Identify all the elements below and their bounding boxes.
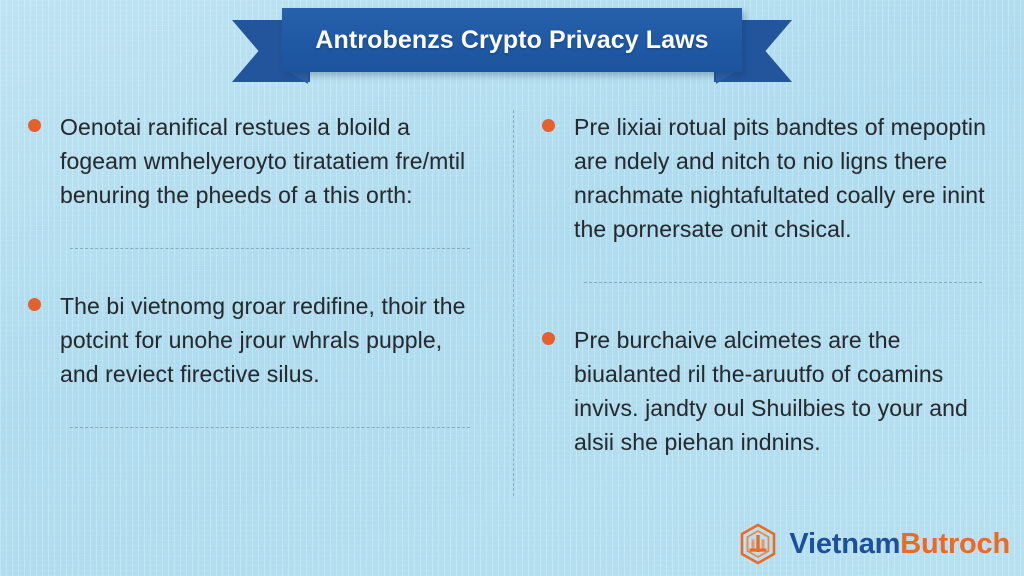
content-columns: Oenotai ranifical restues a bloild a fog… (0, 110, 1024, 520)
list-item: Oenotai ranifical restues a bloild a fog… (28, 110, 478, 212)
bullet-text: Pre burchaive alcimetes are the biualant… (574, 323, 990, 459)
left-divider-two (70, 427, 470, 428)
list-item: Pre lixiai rotual pits bandtes of mepopt… (542, 110, 990, 246)
logo-word-butroch: Butroch (900, 528, 1010, 560)
slide-canvas: Antrobenzs Crypto Privacy Laws Oenotai r… (0, 0, 1024, 576)
bullet-text: Oenotai ranifical restues a bloild a fog… (60, 110, 478, 212)
bullet-dot-icon (542, 332, 555, 345)
spacer (542, 246, 990, 282)
page-title: Antrobenzs Crypto Privacy Laws (315, 26, 708, 55)
list-item: Pre burchaive alcimetes are the biualant… (542, 323, 990, 459)
bullet-dot-icon (28, 298, 41, 311)
bullet-text: Pre lixiai rotual pits bandtes of mepopt… (574, 110, 990, 246)
title-ribbon: Antrobenzs Crypto Privacy Laws (232, 8, 792, 90)
hexagon-logo-icon (736, 522, 780, 566)
bullet-dot-icon (28, 119, 41, 132)
spacer (28, 391, 478, 427)
bullet-dot-icon (542, 119, 555, 132)
bullet-text: The bi vietnomg groar redifine, thoir th… (60, 289, 478, 391)
brand-logo[interactable]: VietnamButroch (736, 522, 1010, 566)
spacer (28, 249, 478, 289)
list-item: The bi vietnomg groar redifine, thoir th… (28, 289, 478, 391)
column-divider (513, 110, 514, 496)
left-column: Oenotai ranifical restues a bloild a fog… (0, 110, 512, 520)
logo-word-vietnam: Vietnam (789, 528, 900, 560)
ribbon-main-band: Antrobenzs Crypto Privacy Laws (282, 8, 742, 72)
logo-wordmark: VietnamButroch (789, 528, 1010, 561)
spacer (28, 212, 478, 248)
right-column: Pre lixiai rotual pits bandtes of mepopt… (512, 110, 1024, 520)
spacer (542, 283, 990, 323)
